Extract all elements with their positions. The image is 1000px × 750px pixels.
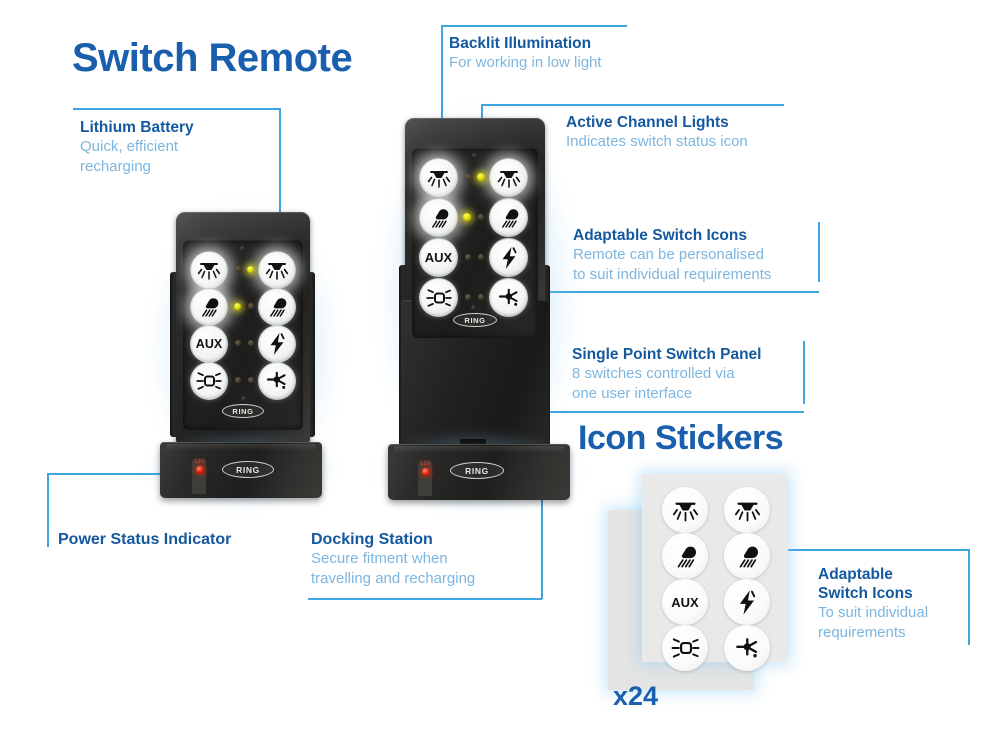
switch-button-spot-beam-2[interactable]	[258, 288, 296, 326]
callout-docking-station: Docking Station Secure fitment when trav…	[311, 530, 475, 588]
infographic-canvas: Switch Remote Icon Stickers Lithium Batt…	[0, 0, 1000, 750]
spot-beam-icon	[197, 296, 221, 318]
callout-subtitle-line2: recharging	[80, 157, 194, 177]
dock-slot	[460, 439, 486, 444]
callout-title: Power Status Indicator	[58, 530, 231, 549]
indicator-led-bottom	[241, 396, 246, 401]
headlamp-icon	[426, 288, 452, 308]
channel-led-3	[463, 213, 471, 221]
callout-title-line1: Adaptable	[818, 565, 928, 584]
sticker-water-tap[interactable]	[724, 625, 770, 671]
work-lamp-icon	[672, 498, 699, 523]
callout-subtitle-line1: To suit individual	[818, 603, 928, 623]
callout-power-status-indicator: Power Status Indicator	[58, 530, 231, 549]
callout-adaptable-switch-icons: Adaptable Switch Icons Remote can be per…	[573, 226, 771, 284]
callout-subtitle-line1: Indicates switch status icon	[566, 132, 748, 152]
section-title-icon-stickers: Icon Stickers	[578, 419, 783, 458]
channel-led-1	[465, 174, 471, 180]
channel-led-1	[235, 266, 241, 272]
callout-subtitle-line1: Secure fitment when	[311, 549, 475, 569]
callout-title-line2: Switch Icons	[818, 584, 928, 603]
dock-voltage-label: 12V	[420, 461, 431, 467]
channel-led-2	[477, 173, 485, 181]
brand-logo-remote: RING	[222, 404, 264, 418]
callout-adaptable-switch-icons-stickers: Adaptable Switch Icons To suit individua…	[818, 565, 928, 642]
channel-led-2	[247, 266, 254, 273]
leader-backlit-top	[441, 25, 627, 27]
leader-power-status-vert	[47, 473, 49, 547]
switch-button-work-lamp-2[interactable]	[258, 251, 296, 289]
switch-button-water-tap[interactable]	[258, 362, 296, 400]
leader-docking-bottom	[308, 598, 542, 600]
callout-title: Active Channel Lights	[566, 113, 748, 132]
switch-button-headlamp[interactable]	[419, 278, 458, 317]
work-lamp-icon	[427, 167, 451, 189]
aux-text-icon: AUX	[671, 595, 698, 610]
switch-button-spot-beam-2[interactable]	[489, 198, 528, 237]
headlamp-icon	[196, 371, 222, 391]
water-tap-icon	[497, 287, 521, 309]
power-status-led	[196, 466, 204, 474]
leader-single-point-right	[803, 341, 805, 404]
channel-led-7	[235, 377, 241, 383]
indicator-led-top	[240, 246, 245, 251]
lightning-icon	[267, 332, 287, 356]
sticker-spot-beam-2[interactable]	[724, 533, 770, 579]
switch-button-work-lamp-1[interactable]	[419, 158, 458, 197]
leader-lithium-battery-top	[73, 108, 281, 110]
water-tap-icon	[734, 636, 761, 661]
lightning-icon	[499, 246, 519, 270]
channel-led-5	[465, 254, 471, 260]
callout-subtitle-line2: travelling and recharging	[311, 569, 475, 589]
indicator-led-bottom	[471, 305, 476, 310]
channel-led-8	[248, 377, 254, 383]
channel-led-4	[478, 214, 484, 220]
leader-adaptable-right	[818, 222, 820, 282]
switch-button-lightning[interactable]	[258, 325, 296, 363]
callout-subtitle-line2: requirements	[818, 623, 928, 643]
callout-lithium-battery: Lithium Battery Quick, efficient recharg…	[80, 118, 194, 176]
callout-subtitle-line1: Quick, efficient	[80, 137, 194, 157]
work-lamp-icon	[197, 259, 221, 281]
callout-single-point-switch-panel: Single Point Switch Panel 8 switches con…	[572, 345, 761, 403]
work-lamp-icon	[265, 259, 289, 281]
sticker-headlamp[interactable]	[662, 625, 708, 671]
work-lamp-icon	[734, 498, 761, 523]
sticker-work-lamp-2[interactable]	[724, 487, 770, 533]
switch-button-aux[interactable]: AUX	[190, 325, 228, 363]
callout-subtitle-line2: to suit individual requirements	[573, 265, 771, 285]
callout-title: Adaptable Switch Icons	[573, 226, 771, 245]
switch-button-aux[interactable]: AUX	[419, 238, 458, 277]
callout-subtitle-line1: 8 switches controlled via	[572, 364, 761, 384]
channel-led-8	[478, 294, 484, 300]
lightning-icon	[736, 589, 758, 616]
work-lamp-icon	[497, 167, 521, 189]
sticker-quantity-label: x24	[613, 681, 658, 712]
callout-subtitle-line2: one user interface	[572, 384, 761, 404]
dock-lip	[166, 444, 316, 451]
spot-beam-icon	[427, 207, 451, 229]
water-tap-icon	[265, 370, 289, 392]
brand-logo-dock: RING	[450, 462, 504, 479]
switch-button-work-lamp-1[interactable]	[190, 251, 228, 289]
dock-lip	[394, 446, 564, 453]
callout-subtitle-line1: For working in low light	[449, 53, 602, 73]
channel-led-7	[465, 294, 471, 300]
callout-subtitle-line1: Remote can be personalised	[573, 245, 771, 265]
switch-button-lightning[interactable]	[489, 238, 528, 277]
headlamp-icon	[671, 637, 700, 659]
switch-button-spot-beam-1[interactable]	[419, 198, 458, 237]
brand-logo-remote: RING	[453, 313, 497, 327]
channel-led-4	[248, 303, 254, 309]
channel-led-6	[248, 340, 254, 346]
callout-title: Docking Station	[311, 530, 475, 549]
dock-voltage-label: 12V	[194, 459, 205, 465]
spot-beam-icon	[672, 544, 699, 569]
callout-title: Lithium Battery	[80, 118, 194, 137]
callout-backlit-illumination: Backlit Illumination For working in low …	[449, 34, 602, 73]
spot-beam-icon	[265, 296, 289, 318]
channel-led-5	[235, 340, 241, 346]
switch-button-water-tap[interactable]	[489, 278, 528, 317]
spot-beam-icon	[734, 544, 761, 569]
indicator-led-top	[472, 153, 477, 158]
callout-active-channel-lights: Active Channel Lights Indicates switch s…	[566, 113, 748, 152]
aux-text-icon: AUX	[196, 337, 222, 351]
callout-title: Backlit Illumination	[449, 34, 602, 53]
page-title-switch-remote: Switch Remote	[72, 36, 352, 81]
sticker-aux[interactable]: AUX	[662, 579, 708, 625]
switch-button-headlamp[interactable]	[190, 362, 228, 400]
brand-logo-dock: RING	[222, 461, 274, 478]
spot-beam-icon	[497, 207, 521, 229]
switch-button-spot-beam-1[interactable]	[190, 288, 228, 326]
callout-title: Single Point Switch Panel	[572, 345, 761, 364]
leader-stickers-right	[968, 549, 970, 645]
sticker-work-lamp-1[interactable]	[662, 487, 708, 533]
channel-led-6	[478, 254, 484, 260]
switch-button-work-lamp-2[interactable]	[489, 158, 528, 197]
sticker-lightning[interactable]	[724, 579, 770, 625]
channel-led-3	[234, 303, 241, 310]
sticker-spot-beam-1[interactable]	[662, 533, 708, 579]
power-status-led	[422, 468, 430, 476]
aux-text-icon: AUX	[425, 250, 452, 265]
